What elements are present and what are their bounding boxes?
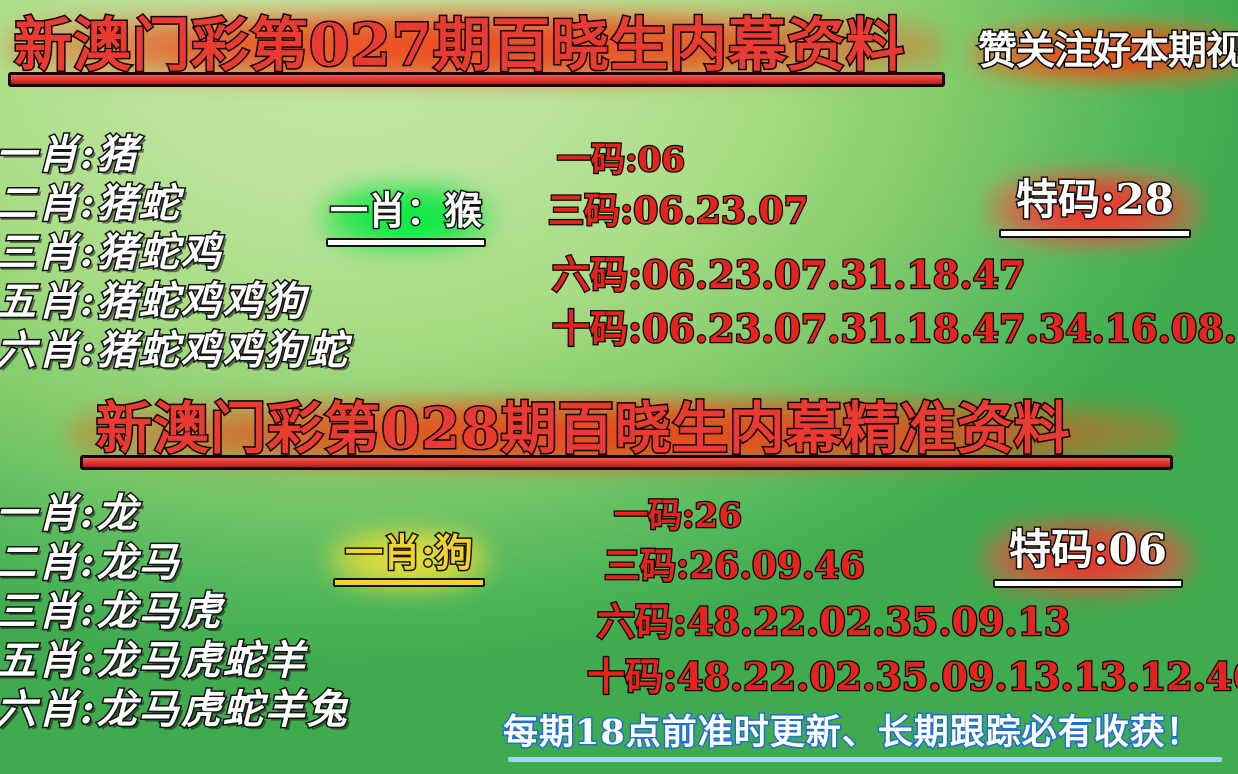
zodiac-row-028-3: 三肖:龙马虎 [0,588,223,636]
number-row-027-3: 六码:06.23.07.31.18.47 [552,253,1025,297]
title-027: 新澳门彩第027期百晓生内幕资料 [14,14,905,76]
poster-canvas: 新澳门彩第027期百晓生内幕资料 赞关注好本期视频 一肖:猪 二肖:猪蛇 三肖:… [0,0,1238,774]
footer-text: 每期18点前准时更新、长期跟踪必有收获！ [503,712,1202,754]
title-027-underline [8,72,945,87]
pick-box-028: 一肖:狗 [326,527,492,593]
pick-box-027-label: 一肖：猴 [318,182,494,236]
number-row-028-4: 十码:48.22.02.35.09.13.13.12.46.26.03 [587,655,1238,699]
zodiac-row-027-5: 六肖:猪蛇鸡鸡狗蛇 [0,327,349,375]
special-box-027-underline [999,229,1191,238]
number-row-028-1: 一码:26 [614,496,742,536]
zodiac-row-028-5: 六肖:龙马虎蛇羊兔 [0,686,349,734]
footer-underline [508,757,1222,762]
special-box-028: 特码:06 [982,520,1194,596]
number-row-027-1: 一码:06 [557,140,685,180]
special-box-028-label: 特码:06 [982,520,1194,578]
special-box-028-underline [993,579,1183,588]
zodiac-row-028-1: 一肖:龙 [0,490,139,538]
pick-box-027: 一肖：猴 [318,182,494,254]
title-028: 新澳门彩第028期百晓生内幕精准资料 [96,398,1071,460]
zodiac-row-027-4: 五肖:猪蛇鸡鸡狗 [0,278,307,326]
pick-box-028-label: 一肖:狗 [326,527,492,577]
number-row-028-2: 三码:26.09.46 [604,545,865,587]
pick-box-028-underline [333,578,485,587]
pick-box-027-underline [326,238,486,247]
zodiac-row-028-2: 二肖:龙马 [0,539,181,587]
special-box-027: 特码:28 [988,170,1202,248]
zodiac-row-027-1: 一肖:猪 [0,131,139,179]
zodiac-row-027-3: 三肖:猪蛇鸡 [0,229,223,277]
number-row-028-3: 六码:48.22.02.35.09.13 [597,600,1070,644]
promo-text: 赞关注好本期视频 [978,30,1238,74]
zodiac-row-027-2: 二肖:猪蛇 [0,180,181,228]
zodiac-row-028-4: 五肖:龙马虎蛇羊 [0,637,307,685]
number-row-027-4: 十码:06.23.07.31.18.47.34.16.08.21 [552,307,1238,351]
special-box-027-label: 特码:28 [988,170,1202,228]
number-row-027-2: 三码:06.23.07 [548,190,809,232]
title-028-underline [80,455,1173,470]
